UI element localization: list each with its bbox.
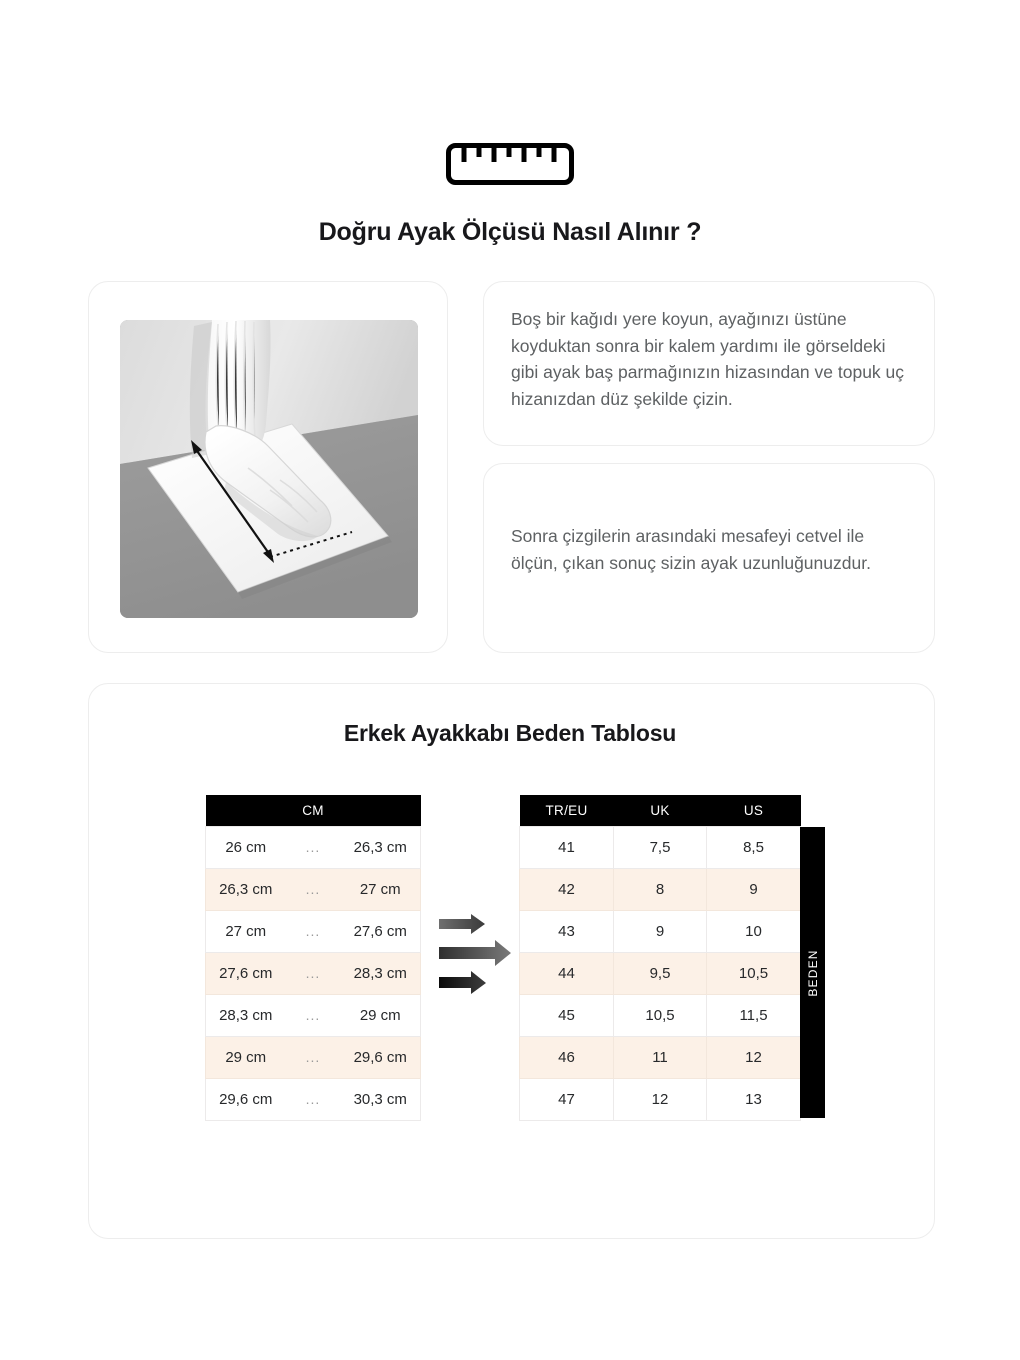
table-row: 27,6 cm ... 28,3 cm [206,952,421,994]
cm-separator: ... [286,868,341,910]
cell-uk: 9 [614,910,707,952]
cm-separator: ... [286,910,341,952]
table-row: 27 cm ... 27,6 cm [206,910,421,952]
instruction-text-1: Boş bir kağıdı yere koyun, ayağınızı üst… [511,306,910,412]
instruction-card-2: Sonra çizgilerin arasındaki mesafeyi cet… [483,463,935,653]
three-right-arrows-icon [437,913,515,995]
table-row: 29 cm ... 29,6 cm [206,1036,421,1078]
cell-tr-eu: 43 [520,910,614,952]
cm-from: 27,6 cm [206,952,286,994]
cell-us: 11,5 [707,994,801,1036]
table-row: 46 11 12 [520,1036,801,1078]
cell-us: 12 [707,1036,801,1078]
size-guide-page: Doğru Ayak Ölçüsü Nasıl Alınır ? [0,0,1020,1360]
cell-tr-eu: 45 [520,994,614,1036]
foot-measurement-illustration [120,320,418,618]
table-row: 29,6 cm ... 30,3 cm [206,1078,421,1120]
table-row: 42 8 9 [520,868,801,910]
cm-to: 29,6 cm [341,1036,421,1078]
cm-header-cell: CM [206,795,421,826]
cm-to: 28,3 cm [341,952,421,994]
column-header-us: US [707,795,801,826]
cell-uk: 7,5 [614,826,707,868]
cm-separator: ... [286,952,341,994]
beden-label: BEDEN [806,949,820,996]
cell-uk: 11 [614,1036,707,1078]
cell-us: 13 [707,1078,801,1120]
cm-from: 28,3 cm [206,994,286,1036]
cell-tr-eu: 42 [520,868,614,910]
cell-uk: 8 [614,868,707,910]
cm-table-header-row: CM [206,795,421,826]
page-title: Doğru Ayak Ölçüsü Nasıl Alınır ? [0,218,1020,247]
table-row: 28,3 cm ... 29 cm [206,994,421,1036]
foot-measurement-photo [120,320,418,618]
cell-uk: 12 [614,1078,707,1120]
cm-separator: ... [286,1078,341,1120]
cm-to: 30,3 cm [341,1078,421,1120]
cm-to: 27,6 cm [341,910,421,952]
ruler-icon [446,143,574,185]
cm-from: 29 cm [206,1036,286,1078]
cell-us: 9 [707,868,801,910]
cell-tr-eu: 47 [520,1078,614,1120]
cm-from: 27 cm [206,910,286,952]
table-row: 43 9 10 [520,910,801,952]
table-row: 26,3 cm ... 27 cm [206,868,421,910]
table-row: 44 9,5 10,5 [520,952,801,994]
column-header-uk: UK [614,795,707,826]
cell-tr-eu: 41 [520,826,614,868]
size-table-title: Erkek Ayakkabı Beden Tablosu [0,720,1020,747]
cell-us: 10 [707,910,801,952]
table-row: 45 10,5 11,5 [520,994,801,1036]
cm-table: CM 26 cm ... 26,3 cm 26,3 cm ... 27 cm 2… [205,795,421,1121]
cm-separator: ... [286,826,341,868]
table-row: 41 7,5 8,5 [520,826,801,868]
cm-to: 26,3 cm [341,826,421,868]
cm-separator: ... [286,994,341,1036]
beden-side-bar: BEDEN [800,827,825,1118]
cell-tr-eu: 44 [520,952,614,994]
cm-from: 26 cm [206,826,286,868]
instruction-card-1: Boş bir kağıdı yere koyun, ayağınızı üst… [483,281,935,446]
cm-from: 29,6 cm [206,1078,286,1120]
cell-uk: 10,5 [614,994,707,1036]
cell-uk: 9,5 [614,952,707,994]
column-header-tr-eu: TR/EU [520,795,614,826]
cell-tr-eu: 46 [520,1036,614,1078]
cell-us: 10,5 [707,952,801,994]
cm-separator: ... [286,1036,341,1078]
foot-photo-card [88,281,448,653]
table-row: 26 cm ... 26,3 cm [206,826,421,868]
size-table-header-row: TR/EU UK US [520,795,801,826]
cell-us: 8,5 [707,826,801,868]
size-chart-table: TR/EU UK US 41 7,5 8,5 42 8 9 43 9 10 [519,795,801,1121]
ruler-icon-container [0,143,1020,185]
cm-from: 26,3 cm [206,868,286,910]
cm-to: 27 cm [341,868,421,910]
cm-to: 29 cm [341,994,421,1036]
instruction-text-2: Sonra çizgilerin arasındaki mesafeyi cet… [511,523,910,576]
table-row: 47 12 13 [520,1078,801,1120]
